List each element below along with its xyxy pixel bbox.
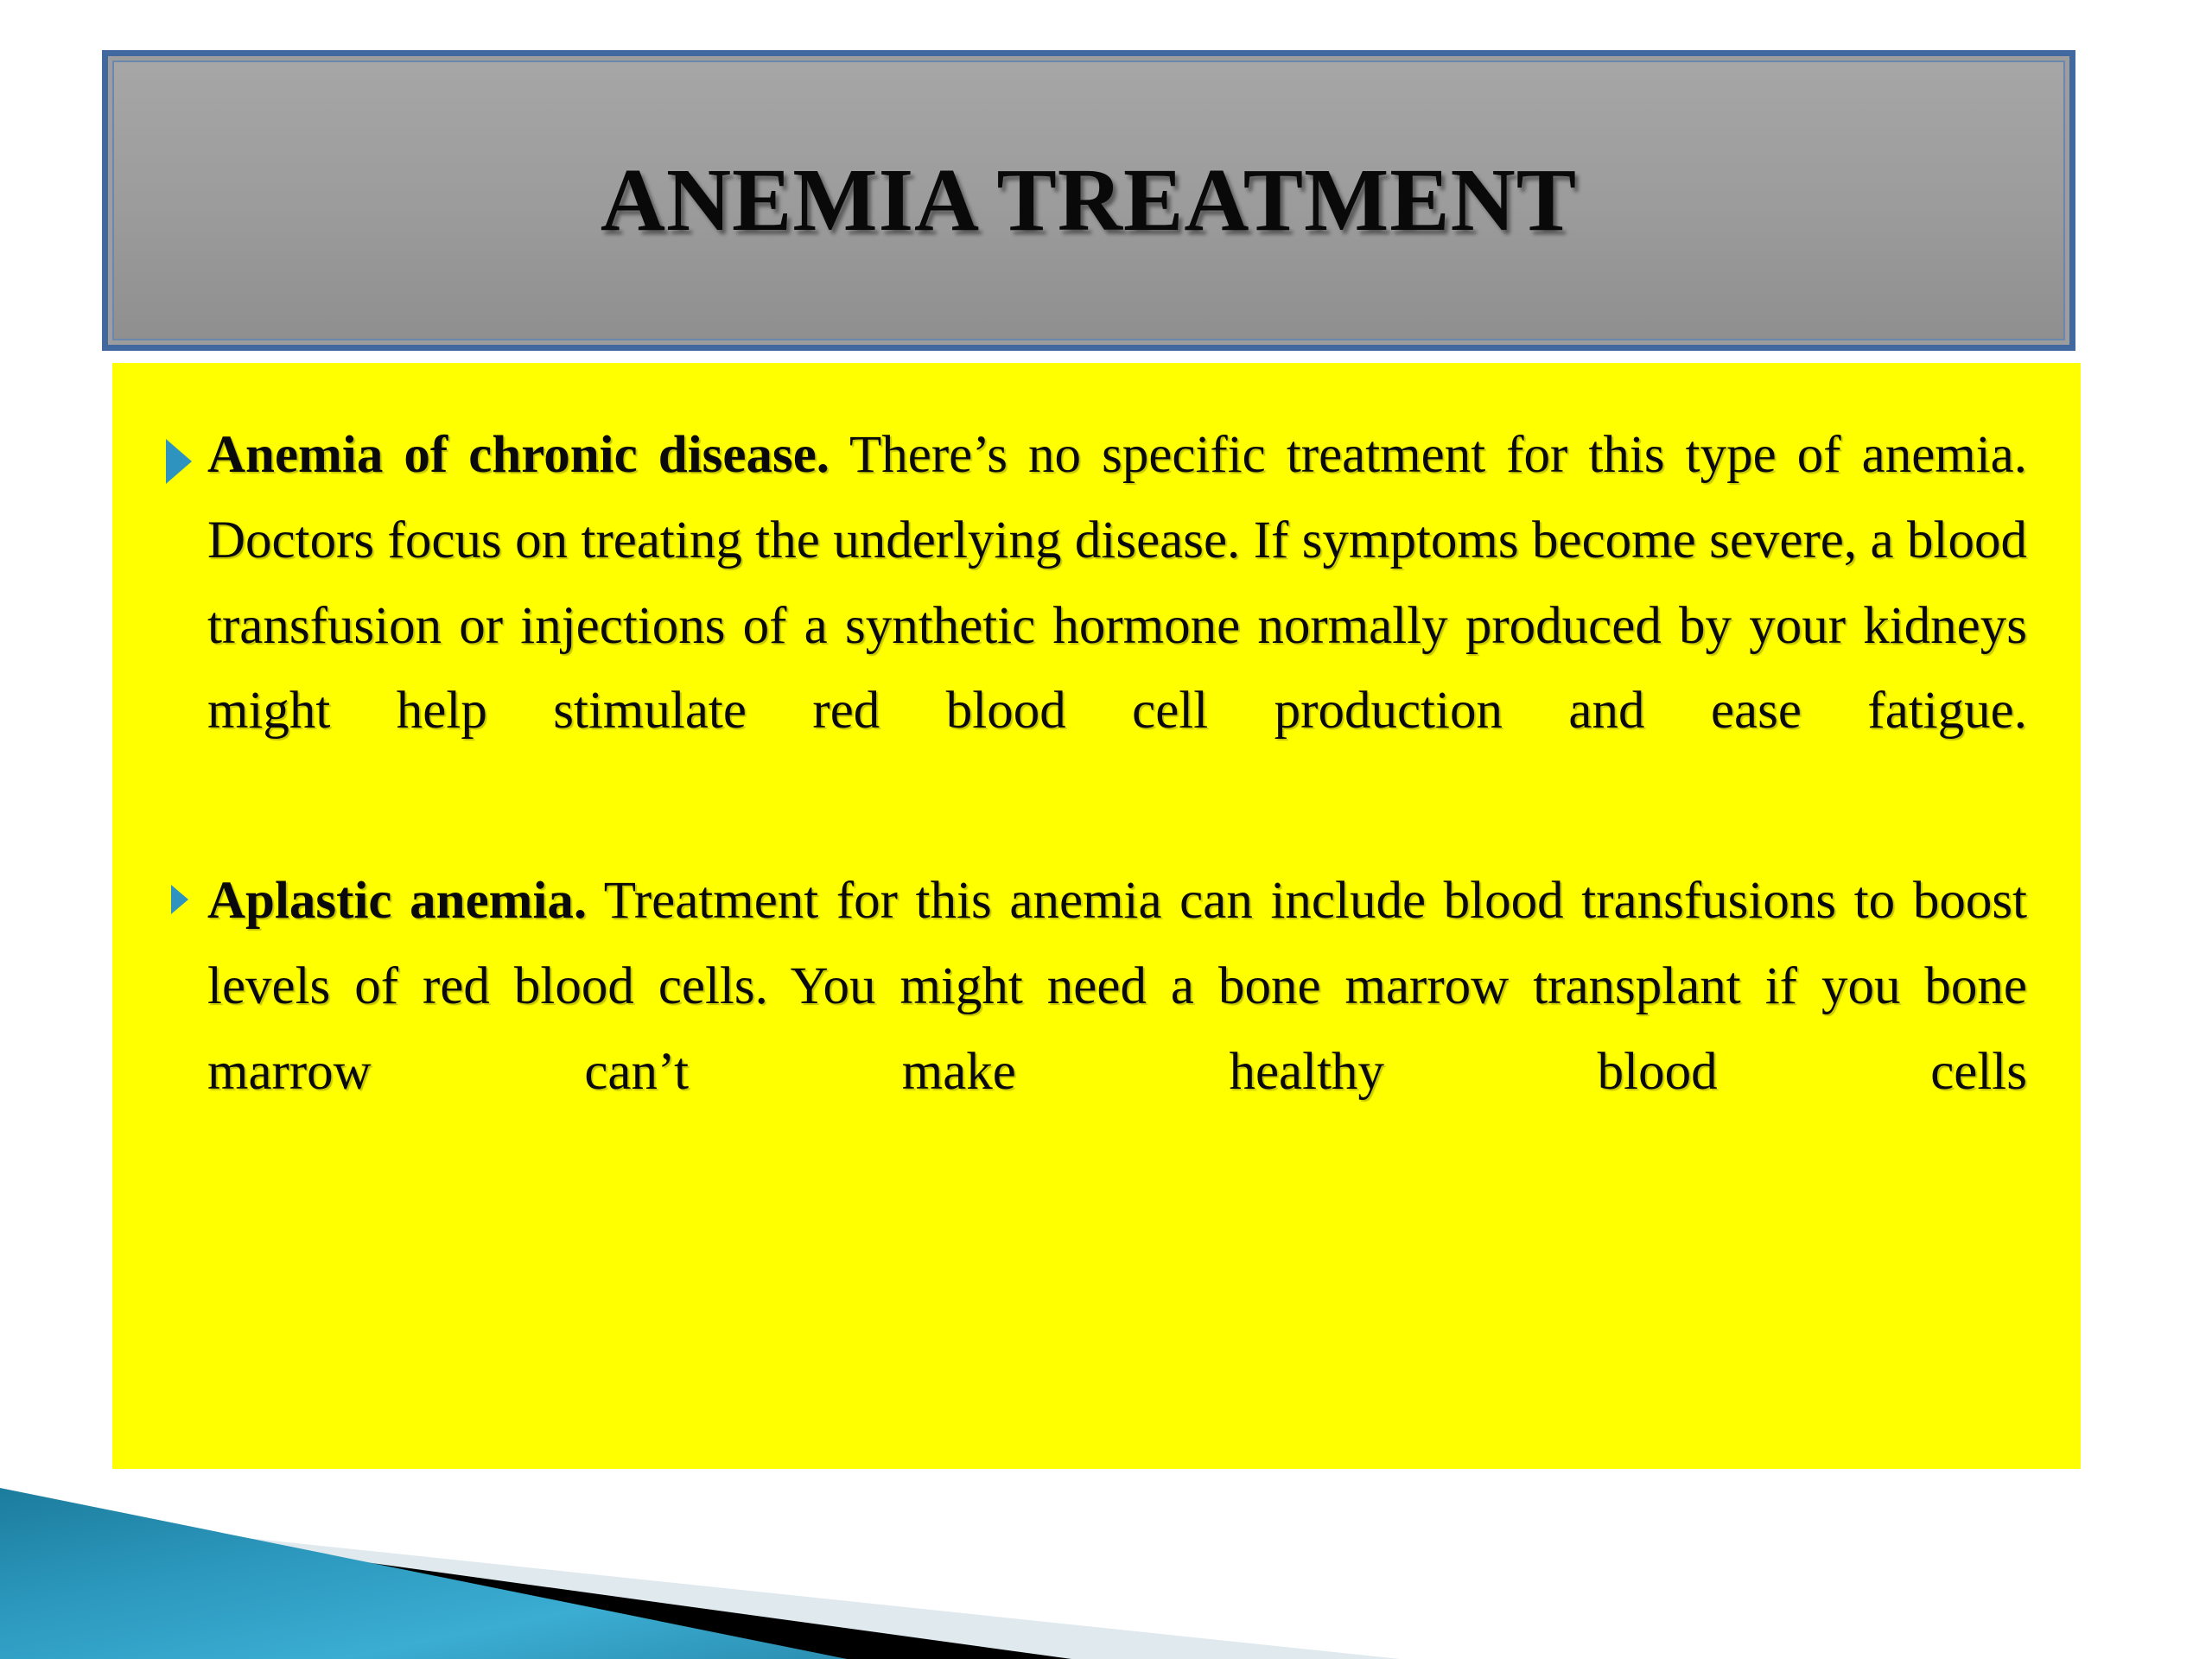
deco-teal-triangle [0, 1488, 847, 1659]
bullet-text-1: Anemia of chronic disease. There’s no sp… [207, 413, 2027, 840]
content-block: Anemia of chronic disease. There’s no sp… [112, 363, 2081, 1469]
triangle-right-icon [166, 439, 192, 484]
slide-title-inner: ANEMIA TREATMENT [112, 60, 2065, 340]
deco-pale-wedge [0, 1512, 1400, 1659]
list-item: Anemia of chronic disease. There’s no sp… [154, 413, 2027, 840]
bullet-marker-1 [154, 413, 207, 484]
deco-black-stripe [0, 1512, 1071, 1659]
list-item: Aplastic anemia. Treatment for this anem… [154, 859, 2027, 1200]
slide-canvas: ANEMIA TREATMENT Anemia of chronic disea… [0, 0, 2212, 1659]
bullet-lead-2: Aplastic anemia. [207, 872, 587, 930]
slide-title-frame: ANEMIA TREATMENT [102, 50, 2075, 351]
bullet-text-2: Aplastic anemia. Treatment for this anem… [207, 859, 2027, 1200]
page-title: ANEMIA TREATMENT [601, 156, 1577, 245]
bullet-lead-1: Anemia of chronic disease. [207, 426, 829, 484]
triangle-right-icon [171, 885, 188, 914]
bullet-marker-2 [154, 859, 207, 914]
